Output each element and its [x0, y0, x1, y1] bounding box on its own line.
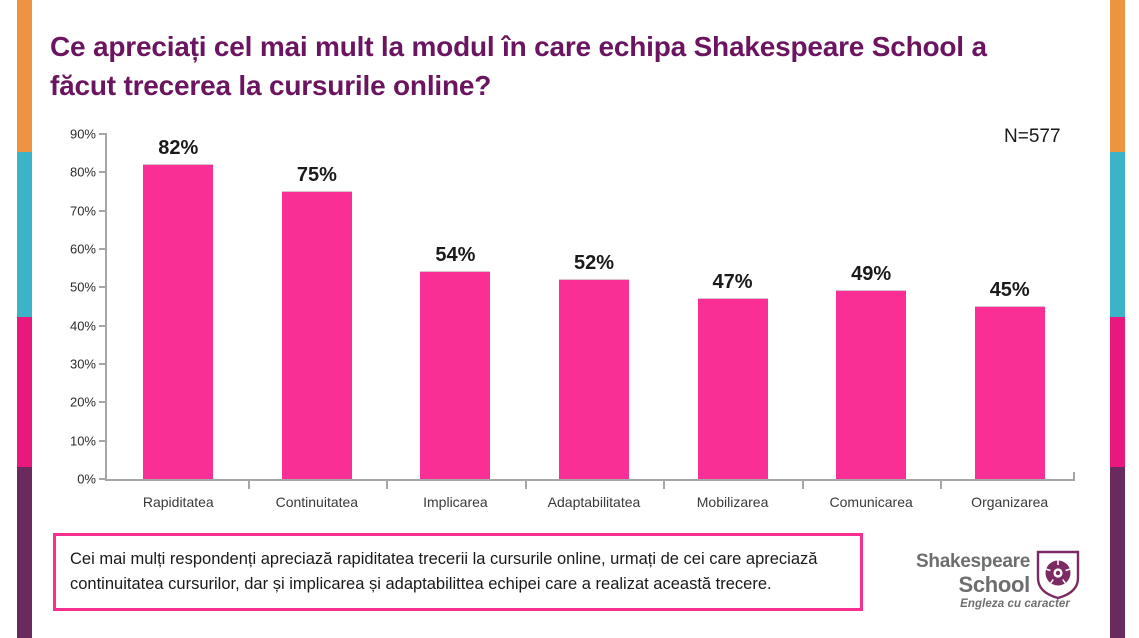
y-axis-line	[105, 133, 107, 481]
x-axis-line	[105, 479, 1075, 481]
y-axis-tick	[99, 286, 105, 288]
page-title: Ce apreciați cel mai mult la modul în ca…	[50, 28, 1010, 105]
bar-value-label: 49%	[851, 263, 891, 286]
y-axis-tick-label: 20%	[70, 395, 96, 410]
bar-value-label: 54%	[435, 244, 475, 267]
y-axis-tick-label: 90%	[70, 127, 96, 142]
bar	[143, 164, 213, 479]
bar-value-label: 82%	[158, 137, 198, 160]
right-color-rail	[1110, 0, 1125, 638]
x-axis-tick	[940, 481, 942, 489]
purple-band	[1110, 467, 1125, 638]
x-axis-tick	[386, 481, 388, 489]
y-axis-tick	[99, 210, 105, 212]
x-axis-tick	[802, 481, 804, 489]
bar	[975, 306, 1045, 480]
x-axis-category-label: Implicarea	[423, 494, 488, 510]
x-axis-tick	[663, 481, 665, 489]
bar	[282, 191, 352, 480]
bar	[559, 279, 629, 479]
y-axis-tick-label: 50%	[70, 280, 96, 295]
y-axis-tick-label: 0%	[77, 472, 96, 487]
y-axis-tick	[99, 248, 105, 250]
logo-wordmark: Shakespeare School	[910, 552, 1030, 596]
teal-band	[1110, 152, 1125, 317]
purple-band	[17, 467, 32, 638]
pink-band	[1110, 317, 1125, 467]
y-axis-tick	[99, 440, 105, 442]
y-axis-tick	[99, 363, 105, 365]
y-axis-tick-label: 80%	[70, 165, 96, 180]
y-axis-tick-label: 30%	[70, 357, 96, 372]
bar	[836, 290, 906, 479]
pink-band	[17, 317, 32, 467]
y-axis-tick-label: 10%	[70, 433, 96, 448]
slide-canvas: Ce apreciați cel mai mult la modul în ca…	[0, 0, 1139, 638]
x-axis-category-label: Organizarea	[971, 494, 1048, 510]
insight-caption-box: Cei mai mulți respondenți apreciază rapi…	[53, 533, 863, 611]
y-axis-tick-label: 60%	[70, 242, 96, 257]
bar-value-label: 47%	[713, 271, 753, 294]
chart-plot-area: 0%10%20%30%40%50%60%70%80%90% 82%75%54%5…	[105, 128, 1080, 481]
logo-line-shakespeare: Shakespeare	[910, 552, 1030, 571]
shield-rose-crest-icon	[1034, 548, 1082, 600]
y-axis-tick	[99, 133, 105, 135]
x-axis-tick	[248, 481, 250, 489]
orange-band	[1110, 0, 1125, 152]
left-color-rail	[17, 0, 32, 638]
brand-logo: Shakespeare School Engleza cu caracter	[910, 548, 1085, 618]
bar-chart: 0%10%20%30%40%50%60%70%80%90% 82%75%54%5…	[55, 128, 1080, 513]
x-axis-tick	[525, 481, 527, 489]
bar-value-label: 52%	[574, 252, 614, 275]
bar-value-label: 45%	[990, 279, 1030, 302]
orange-band	[17, 0, 32, 152]
y-axis-tick	[99, 401, 105, 403]
x-axis-category-label: Mobilizarea	[697, 494, 769, 510]
y-axis-tick-label: 70%	[70, 203, 96, 218]
y-axis-tick	[99, 171, 105, 173]
logo-line-school: School	[910, 574, 1030, 596]
x-axis-category-label: Continuitatea	[276, 494, 359, 510]
x-axis-category-label: Rapiditatea	[143, 494, 214, 510]
bar-value-label: 75%	[297, 164, 337, 187]
teal-band	[17, 152, 32, 317]
y-axis-tick	[99, 325, 105, 327]
bar	[420, 271, 490, 479]
y-axis-tick	[99, 478, 105, 480]
x-axis-endcap	[1073, 472, 1075, 481]
x-axis-category-label: Comunicarea	[830, 494, 913, 510]
y-axis-tick-label: 40%	[70, 318, 96, 333]
x-axis-category-label: Adaptabilitatea	[548, 494, 641, 510]
bar	[698, 298, 768, 479]
